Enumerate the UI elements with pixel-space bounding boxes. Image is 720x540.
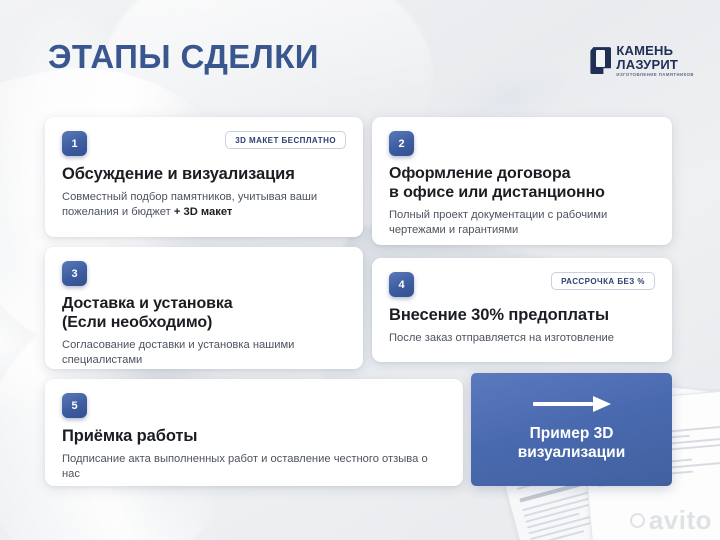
step-card-4[interactable]: 4 РАССРОЧКА БЕЗ % Внесение 30% предоплат…: [372, 258, 672, 362]
card-header: 4 РАССРОЧКА БЕЗ %: [389, 272, 655, 297]
step-title: Внесение 30% предоплаты: [389, 306, 655, 325]
step-title: Приёмка работы: [62, 427, 446, 446]
step-title: Доставка и установка (Если необходимо): [62, 295, 346, 332]
step-card-1[interactable]: 1 3D МАКЕТ БЕСПЛАТНО Обсуждение и визуал…: [45, 117, 363, 237]
step-card-5[interactable]: 5 Приёмка работы Подписание акта выполне…: [45, 379, 463, 486]
brand-tagline: ИЗГОТОВЛЕНИЕ ПАМЯТНИКОВ: [616, 73, 694, 77]
card-header: 1 3D МАКЕТ БЕСПЛАТНО: [62, 131, 346, 156]
step-title-line1: Оформление договора: [389, 165, 655, 184]
header: ЭТАПЫ СДЕЛКИ: [48, 38, 319, 76]
card-tag-badge: 3D МАКЕТ БЕСПЛАТНО: [225, 131, 346, 149]
monument-book-icon: [590, 47, 611, 74]
brand-logo[interactable]: КАМЕНЬ ЛАЗУРИТ ИЗГОТОВЛЕНИЕ ПАМЯТНИКОВ: [590, 44, 694, 77]
step-card-2[interactable]: 2 Оформление договора в офисе или дистан…: [372, 117, 672, 245]
step-title-line1: Доставка и установка: [62, 295, 346, 314]
cta-3d-example-panel[interactable]: Пример 3D визуализации: [471, 373, 672, 486]
brand-logo-text: КАМЕНЬ ЛАЗУРИТ ИЗГОТОВЛЕНИЕ ПАМЯТНИКОВ: [616, 44, 694, 77]
card-header: 3: [62, 261, 346, 286]
card-header: 5: [62, 393, 446, 418]
step-number-badge: 1: [62, 131, 87, 156]
cta-label-line1: Пример 3D: [518, 425, 626, 444]
step-description-emphasis: + 3D макет: [174, 206, 233, 218]
brand-name-line2: ЛАЗУРИТ: [616, 58, 694, 71]
step-title: Обсуждение и визуализация: [62, 165, 346, 184]
page-title: ЭТАПЫ СДЕЛКИ: [48, 38, 319, 76]
step-description: Совместный подбор памятников, учитывая в…: [62, 190, 346, 220]
step-title-line2: в офисе или дистанционно: [389, 184, 655, 203]
slide-content: ЭТАПЫ СДЕЛКИ КАМЕНЬ ЛАЗУРИТ ИЗГОТОВЛЕНИЕ…: [0, 0, 720, 540]
step-number-badge: 3: [62, 261, 87, 286]
cta-label: Пример 3D визуализации: [518, 425, 626, 462]
arrow-right-icon: [533, 396, 611, 412]
step-description: Полный проект документации с рабочими че…: [389, 208, 655, 238]
card-tag-badge: РАССРОЧКА БЕЗ %: [551, 272, 655, 290]
step-description: После заказ отправляется на изготовление: [389, 331, 655, 346]
card-header: 2: [389, 131, 655, 156]
step-title-line2: (Если необходимо): [62, 314, 346, 333]
step-number-badge: 2: [389, 131, 414, 156]
step-number-badge: 5: [62, 393, 87, 418]
brand-name-line1: КАМЕНЬ: [616, 44, 694, 57]
step-description: Подписание акта выполненных работ и оста…: [62, 452, 446, 482]
step-title: Оформление договора в офисе или дистанци…: [389, 165, 655, 202]
step-description: Согласование доставки и установка нашими…: [62, 338, 346, 368]
cta-label-line2: визуализации: [518, 444, 626, 463]
step-card-3[interactable]: 3 Доставка и установка (Если необходимо)…: [45, 247, 363, 369]
step-number-badge: 4: [389, 272, 414, 297]
